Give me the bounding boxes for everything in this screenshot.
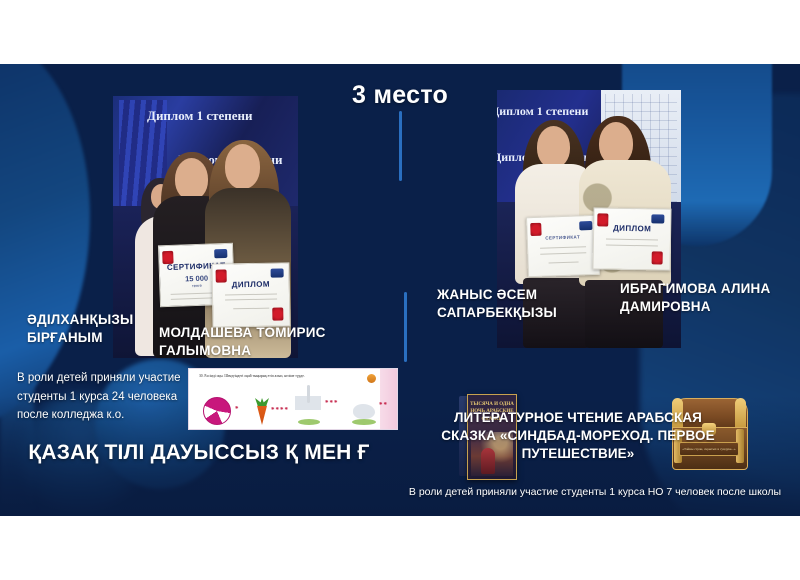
certificate-right-title: СЕРТИФИКАТ: [528, 234, 598, 241]
textbook-task-text: 30. Рәсімді оқы. Шеңзуіндегі оңай тыңыры…: [199, 374, 373, 379]
textbook-ball-icon: [203, 397, 231, 425]
participation-caption-right: В роли детей приняли участие студенты 1 …: [390, 485, 800, 500]
presentation-slide: Диплом 1 степени Диплом 2 степени: [0, 64, 800, 516]
participant-name-left-2: МОЛДАШЕВА ТОМИРИС ГАЛЫМОВНА: [159, 324, 355, 359]
textbook-mark-2: ****: [271, 406, 289, 414]
photo-left-screen-text-1: Диплом 1 степени: [147, 108, 253, 124]
participant-name-right-2: ИБРАГИМОВА АЛИНА ДАМИРОВНА: [620, 280, 798, 315]
certificate-right-seal-icon: [530, 223, 541, 236]
certificate-emblem-icon: [214, 249, 227, 258]
participant-name-right-1: ЖАНЫС ӘСЕМ САПАРБЕКҚЫЗЫ: [437, 286, 597, 321]
textbook-mark-1: *: [235, 405, 240, 413]
certificate-right-emblem-icon: [579, 221, 592, 230]
certificate-right: СЕРТИФИКАТ: [526, 215, 600, 277]
diploma-left: ДИПЛОМ: [211, 262, 290, 327]
photo-right-screen-text-1: Диплом 1 степени: [497, 104, 588, 119]
textbook-goose-icon: [349, 391, 377, 425]
diploma-right-title: ДИПЛОМ: [594, 223, 670, 233]
textbook-mark-3: ***: [325, 399, 339, 407]
subject-title-right: ЛИТЕРАТУРНОЕ ЧТЕНИЕ АРАБСКАЯ СКАЗКА «СИН…: [428, 409, 728, 463]
subject-title-left: ҚАЗАҚ ТІЛІ ДАУЫССЫЗ Қ МЕН Ғ: [24, 440, 374, 466]
textbook-exercise-image: 30. Рәсімді оқы. Шеңзуіндегі оңай тыңыры…: [188, 368, 398, 430]
vertical-divider-bottom: [404, 292, 407, 362]
diploma-emblem-icon: [271, 268, 284, 277]
vertical-divider-top: [399, 111, 402, 181]
textbook-crane-icon: [295, 385, 321, 425]
slide-viewer: Диплом 1 степени Диплом 2 степени: [0, 0, 800, 580]
textbook-mark-4: **: [379, 401, 388, 409]
participant-name-left-1: ӘДІЛХАНҚЫЗЫ БІРҒАНЫМ: [27, 311, 167, 346]
place-title: 3 место: [352, 81, 448, 110]
textbook-page-edge: [380, 369, 397, 429]
textbook-marker-icon: [367, 374, 376, 383]
diploma-seal-icon-2: [272, 307, 283, 320]
participation-caption-left: В роли детей приняли участие студенты 1 …: [17, 369, 189, 425]
diploma-right-emblem-icon: [651, 214, 664, 223]
diploma-title: ДИПЛОМ: [213, 279, 289, 289]
chest-lid-band-right: [735, 398, 746, 428]
textbook-carrot-leaves-icon: [255, 398, 269, 406]
diploma-right-seal-icon-2: [652, 251, 663, 264]
diploma-right: ДИПЛОМ: [592, 207, 671, 270]
